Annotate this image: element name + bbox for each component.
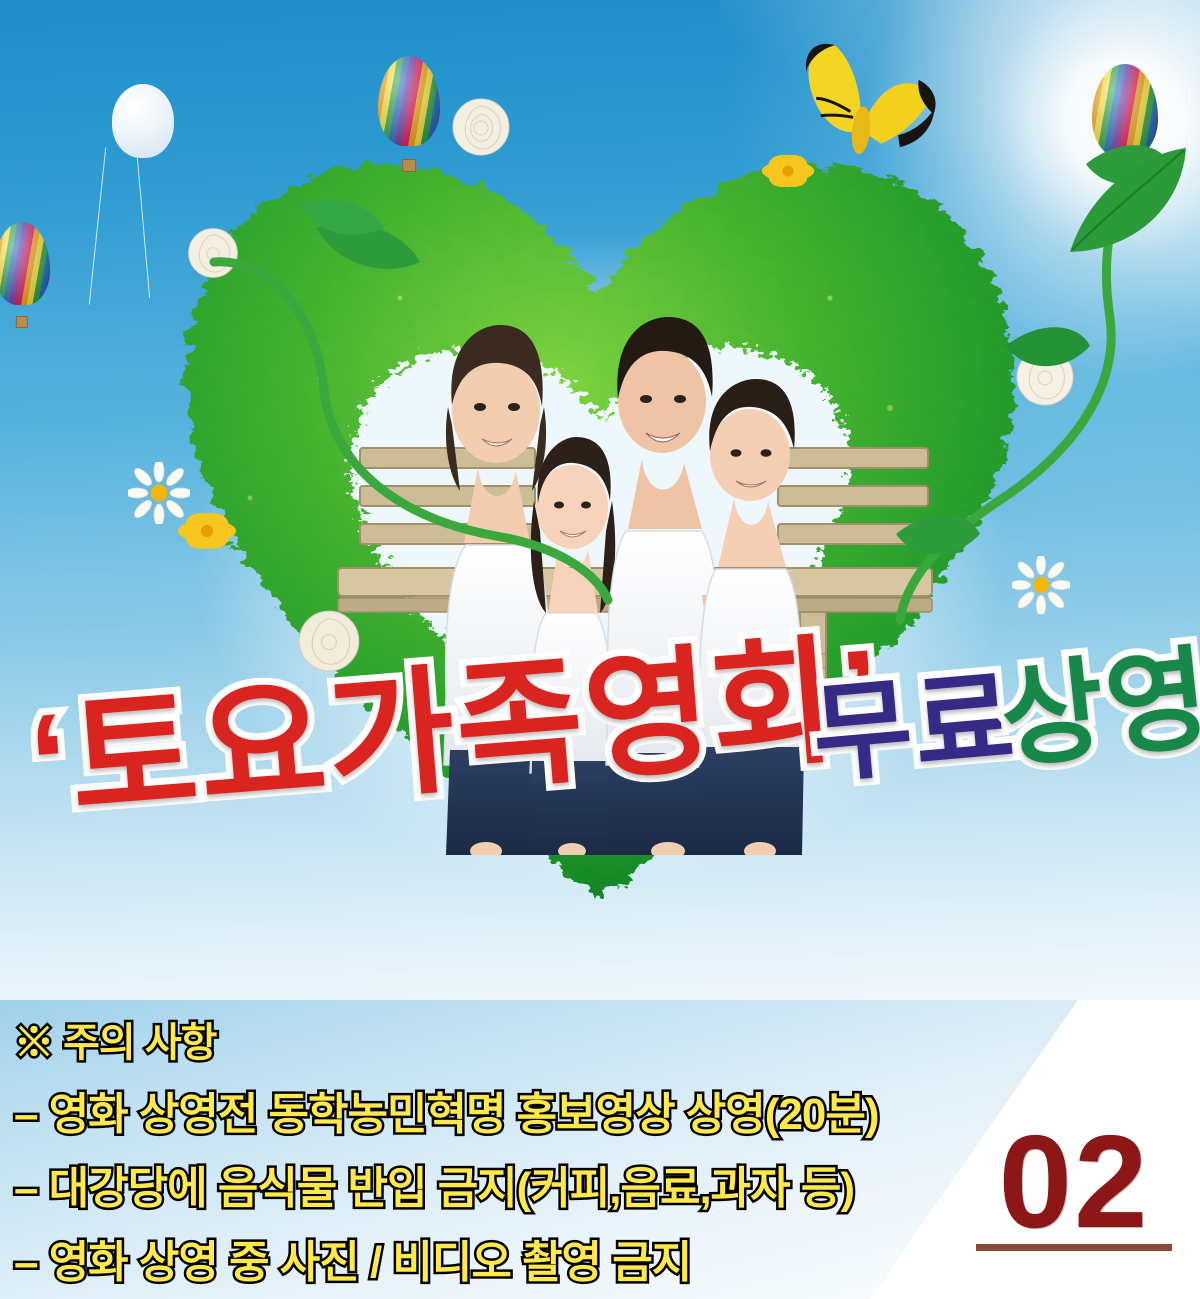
notice-line-1: – 영화 상영전 동학농민혁명 홍보영상 상영(20분) xyxy=(14,1078,974,1142)
green-leaf-sun-icon xyxy=(1062,142,1192,262)
poster-title: ‘토요가족영화’ 무료 상영 xyxy=(0,600,1200,810)
hot-air-balloon-center-icon xyxy=(378,56,440,172)
notice-line-2: – 대강당에 음식물 반입 금지(커피,음료,과자 등) xyxy=(14,1152,974,1216)
title-free-text: 무료 xyxy=(806,631,1022,804)
notice-panel: ※ 주의 사항 – 영화 상영전 동학농민혁명 홍보영상 상영(20분) – 대… xyxy=(0,1000,1200,1299)
yellow-dandelion-top-icon xyxy=(760,148,816,194)
vine-left-icon xyxy=(196,200,626,640)
page-number: 02 xyxy=(976,1121,1172,1251)
hot-air-balloon-left-icon xyxy=(0,222,50,328)
notice-heading: ※ 주의 사항 xyxy=(14,1010,974,1068)
notice-list: ※ 주의 사항 – 영화 상영전 동학농민혁명 홍보영상 상영(20분) – 대… xyxy=(14,1010,974,1299)
notice-line-3: – 영화 상영 중 사진 / 비디오 촬영 금지 xyxy=(14,1226,974,1290)
white-balloon-icon xyxy=(112,84,174,158)
title-show-text: 상영 xyxy=(992,607,1200,790)
white-rose-top-icon xyxy=(450,96,512,158)
movie-poster: ‘토요가족영화’ 무료 상영 ※ 주의 사항 – 영화 상영전 동학농민혁명 홍… xyxy=(0,0,1200,1299)
page-number-value: 02 xyxy=(976,1121,1172,1242)
